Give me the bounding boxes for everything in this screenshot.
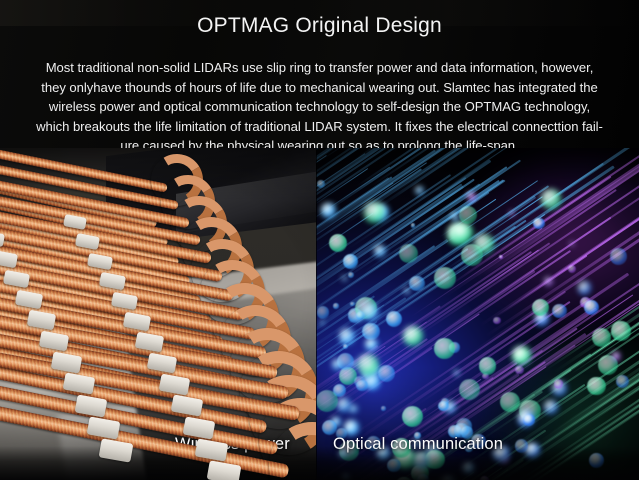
fiber-tip-glow xyxy=(474,234,493,253)
wireless-power-photo: Wireless power xyxy=(0,148,316,480)
fiber-tip-glow xyxy=(399,244,418,263)
fiber-tip-glow xyxy=(417,474,429,480)
fiber-tip-glow xyxy=(515,366,523,374)
fiber-tip-glow xyxy=(320,320,324,324)
fiber-tip-glow xyxy=(554,379,564,389)
fiber-tip-glow xyxy=(411,223,416,228)
fiber-tip-glow xyxy=(434,267,456,289)
fiber-tip-glow xyxy=(452,222,473,243)
fiber-tip-glow xyxy=(356,380,367,391)
fiber-tip-glow xyxy=(493,317,500,324)
fiber-tip-glow xyxy=(578,281,592,295)
fiber-tip-glow xyxy=(348,272,354,278)
fiber-tip-glow xyxy=(343,475,348,480)
fiber-tip-glow xyxy=(612,352,620,360)
fiber-tip-glow xyxy=(515,439,528,452)
fiber-tip-glow xyxy=(333,303,338,308)
fiber-tip-glow xyxy=(459,206,477,224)
fiber-tip-glow xyxy=(479,357,497,375)
photo-seam-divider xyxy=(316,148,317,480)
fiber-tip-glow xyxy=(414,454,429,469)
fiber-tip-glow xyxy=(386,311,402,327)
fiber-tip-glow xyxy=(364,202,384,222)
fiber-tip-glow xyxy=(587,377,605,395)
body-line-4: which breakouts the life limitation of t… xyxy=(6,117,633,137)
body-line-3: wireless power and optical communication… xyxy=(6,97,633,117)
fiber-tip-glow xyxy=(616,375,629,388)
fiber-tip-glow xyxy=(552,304,567,319)
fiber-scene xyxy=(316,148,639,480)
fiber-tip-glow xyxy=(316,390,338,412)
fiber-tip-glow xyxy=(500,392,520,412)
optical-communication-photo: Optical communication xyxy=(316,148,639,480)
fiber-tip-glow xyxy=(451,213,459,221)
fiber-tip-glow xyxy=(403,326,423,346)
fiber-tip-glow xyxy=(332,359,343,370)
fiber-tip-glow xyxy=(434,338,454,358)
fiber-tip-glow xyxy=(317,306,330,319)
fiber-tip-glow xyxy=(611,321,630,340)
fiber-tip-glow xyxy=(510,211,514,215)
presentation-slide: OPTMAG Original Design Most traditional … xyxy=(0,0,639,480)
fiber-tip-glow xyxy=(357,354,379,376)
body-line-2: they onlyhave thounds of hours of life d… xyxy=(6,78,633,98)
body-paragraph: Most traditional non-solid LIDARs use sl… xyxy=(6,58,633,156)
fiber-tip-glow xyxy=(343,344,348,349)
photo-row: Wireless power Optical communication xyxy=(0,148,639,480)
fiber-tip-glow xyxy=(589,453,604,468)
fiber-tip-glow xyxy=(409,276,425,292)
fiber-tip-glow xyxy=(610,248,627,265)
copper-scene xyxy=(0,148,316,480)
caption-optical-communication: Optical communication xyxy=(333,434,503,454)
fiber-tip-glow xyxy=(381,406,385,410)
fiber-tip-glow xyxy=(365,338,378,351)
fiber-tip-glow xyxy=(350,302,355,307)
fiber-tip-glow xyxy=(592,328,611,347)
fiber-tip-glow xyxy=(317,180,324,187)
fiber-tip-glow xyxy=(463,463,474,474)
page-title: OPTMAG Original Design xyxy=(0,12,639,39)
fiber-tip-glow xyxy=(512,346,531,365)
fiber-tip-glow xyxy=(523,414,535,426)
fiber-tip-glow xyxy=(387,459,400,472)
body-line-1: Most traditional non-solid LIDARs use sl… xyxy=(6,58,633,78)
fiber-tip-glow xyxy=(568,265,576,273)
fiber-tip-glow xyxy=(343,254,358,269)
fiber-tip-glow xyxy=(584,300,599,315)
fiber-tip-glow xyxy=(339,328,356,345)
